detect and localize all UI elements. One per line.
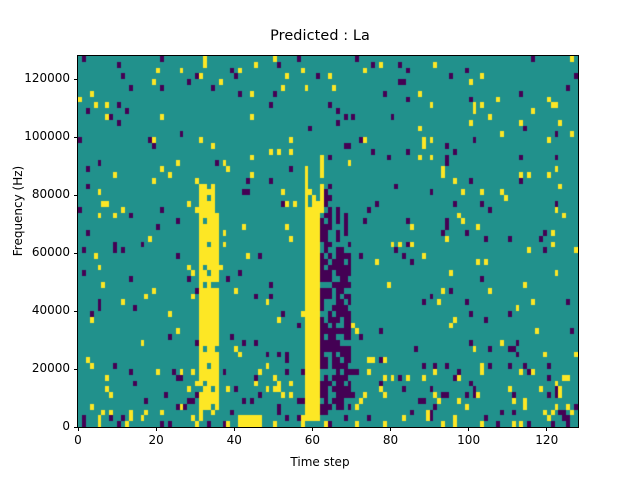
- x-tick-label: 60: [282, 433, 342, 447]
- y-tick-label: 0: [0, 419, 70, 433]
- heatmap-image: [78, 56, 578, 427]
- x-tick-mark: [468, 427, 469, 431]
- y-tick-mark: [74, 253, 78, 254]
- matplotlib-figure: Predicted : La Time step Frequency (Hz) …: [0, 0, 640, 480]
- y-tick-mark: [74, 195, 78, 196]
- y-tick-label: 100000: [0, 129, 70, 143]
- y-tick-mark: [74, 369, 78, 370]
- y-tick-label: 40000: [0, 303, 70, 317]
- y-tick-label: 60000: [0, 245, 70, 259]
- y-tick-label: 120000: [0, 71, 70, 85]
- y-tick-label: 20000: [0, 361, 70, 375]
- heatmap-axes[interactable]: [77, 55, 579, 428]
- x-axis-label: Time step: [0, 455, 640, 469]
- x-tick-label: 100: [439, 433, 499, 447]
- y-tick-label: 80000: [0, 187, 70, 201]
- y-tick-mark: [74, 427, 78, 428]
- x-tick-label: 20: [126, 433, 186, 447]
- y-tick-mark: [74, 311, 78, 312]
- y-tick-mark: [74, 79, 78, 80]
- x-tick-label: 0: [48, 433, 108, 447]
- x-tick-mark: [390, 427, 391, 431]
- y-tick-mark: [74, 137, 78, 138]
- x-tick-mark: [312, 427, 313, 431]
- x-tick-label: 80: [361, 433, 421, 447]
- chart-title: Predicted : La: [0, 28, 640, 44]
- x-tick-label: 120: [517, 433, 577, 447]
- x-tick-label: 40: [204, 433, 264, 447]
- y-axis-label: Frequency (Hz): [11, 131, 25, 291]
- x-tick-mark: [234, 427, 235, 431]
- x-tick-mark: [156, 427, 157, 431]
- x-tick-mark: [546, 427, 547, 431]
